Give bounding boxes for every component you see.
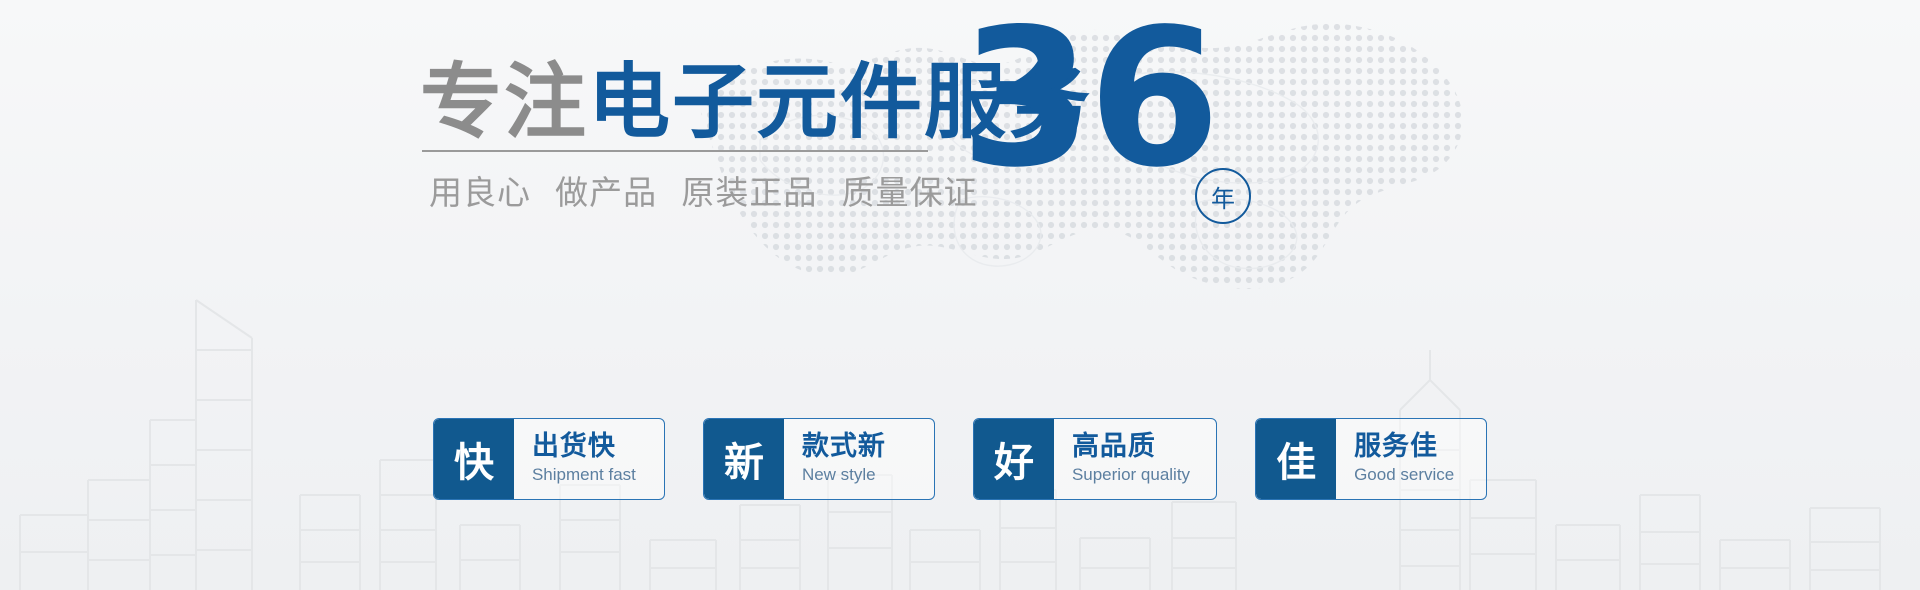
headline-prefix: 专注	[420, 57, 588, 148]
feature-card-good-service[interactable]: 佳 服务佳 Good service	[1255, 418, 1487, 500]
subtitle-item-2: 原装正品	[681, 174, 817, 211]
feature-title-en: New style	[802, 464, 908, 486]
feature-badge-character: 好	[974, 419, 1054, 499]
feature-text-group: 出货快 Shipment fast	[514, 419, 664, 499]
headline-section: 专注电子元件服务 36 年 用良心 做产品 原装正品 质量保证	[0, 0, 1920, 310]
years-unit-badge: 年	[1195, 168, 1251, 224]
feature-badge-character: 佳	[1256, 419, 1336, 499]
feature-text-group: 款式新 New style	[784, 419, 934, 499]
feature-title-cn: 出货快	[532, 431, 638, 462]
subtitle: 用良心 做产品 原装正品 质量保证	[422, 166, 928, 214]
subtitle-item-1: 做产品	[555, 174, 657, 211]
promo-banner: 专注电子元件服务 36 年 用良心 做产品 原装正品 质量保证 快 出货快 Sh…	[0, 0, 1920, 590]
feature-title-en: Good service	[1354, 464, 1460, 486]
feature-card-superior-quality[interactable]: 好 高品质 Superior quality	[973, 418, 1217, 500]
feature-text-group: 高品质 Superior quality	[1054, 419, 1216, 499]
feature-text-group: 服务佳 Good service	[1336, 419, 1486, 499]
feature-title-cn: 高品质	[1072, 431, 1190, 462]
feature-title-en: Shipment fast	[532, 464, 638, 486]
feature-title-cn: 款式新	[802, 431, 908, 462]
subtitle-item-0: 用良心	[429, 174, 531, 211]
feature-badge-character: 新	[704, 419, 784, 499]
feature-badge-character: 快	[434, 419, 514, 499]
feature-title-cn: 服务佳	[1354, 431, 1460, 462]
feature-title-en: Superior quality	[1072, 464, 1190, 486]
headline-divider	[422, 150, 928, 152]
subtitle-item-3: 质量保证	[842, 174, 978, 211]
years-number: 36	[960, 4, 1216, 194]
feature-list: 快 出货快 Shipment fast 新 款式新 New style 好 高品…	[0, 418, 1920, 500]
feature-card-shipment[interactable]: 快 出货快 Shipment fast	[433, 418, 665, 500]
feature-card-new-style[interactable]: 新 款式新 New style	[703, 418, 935, 500]
